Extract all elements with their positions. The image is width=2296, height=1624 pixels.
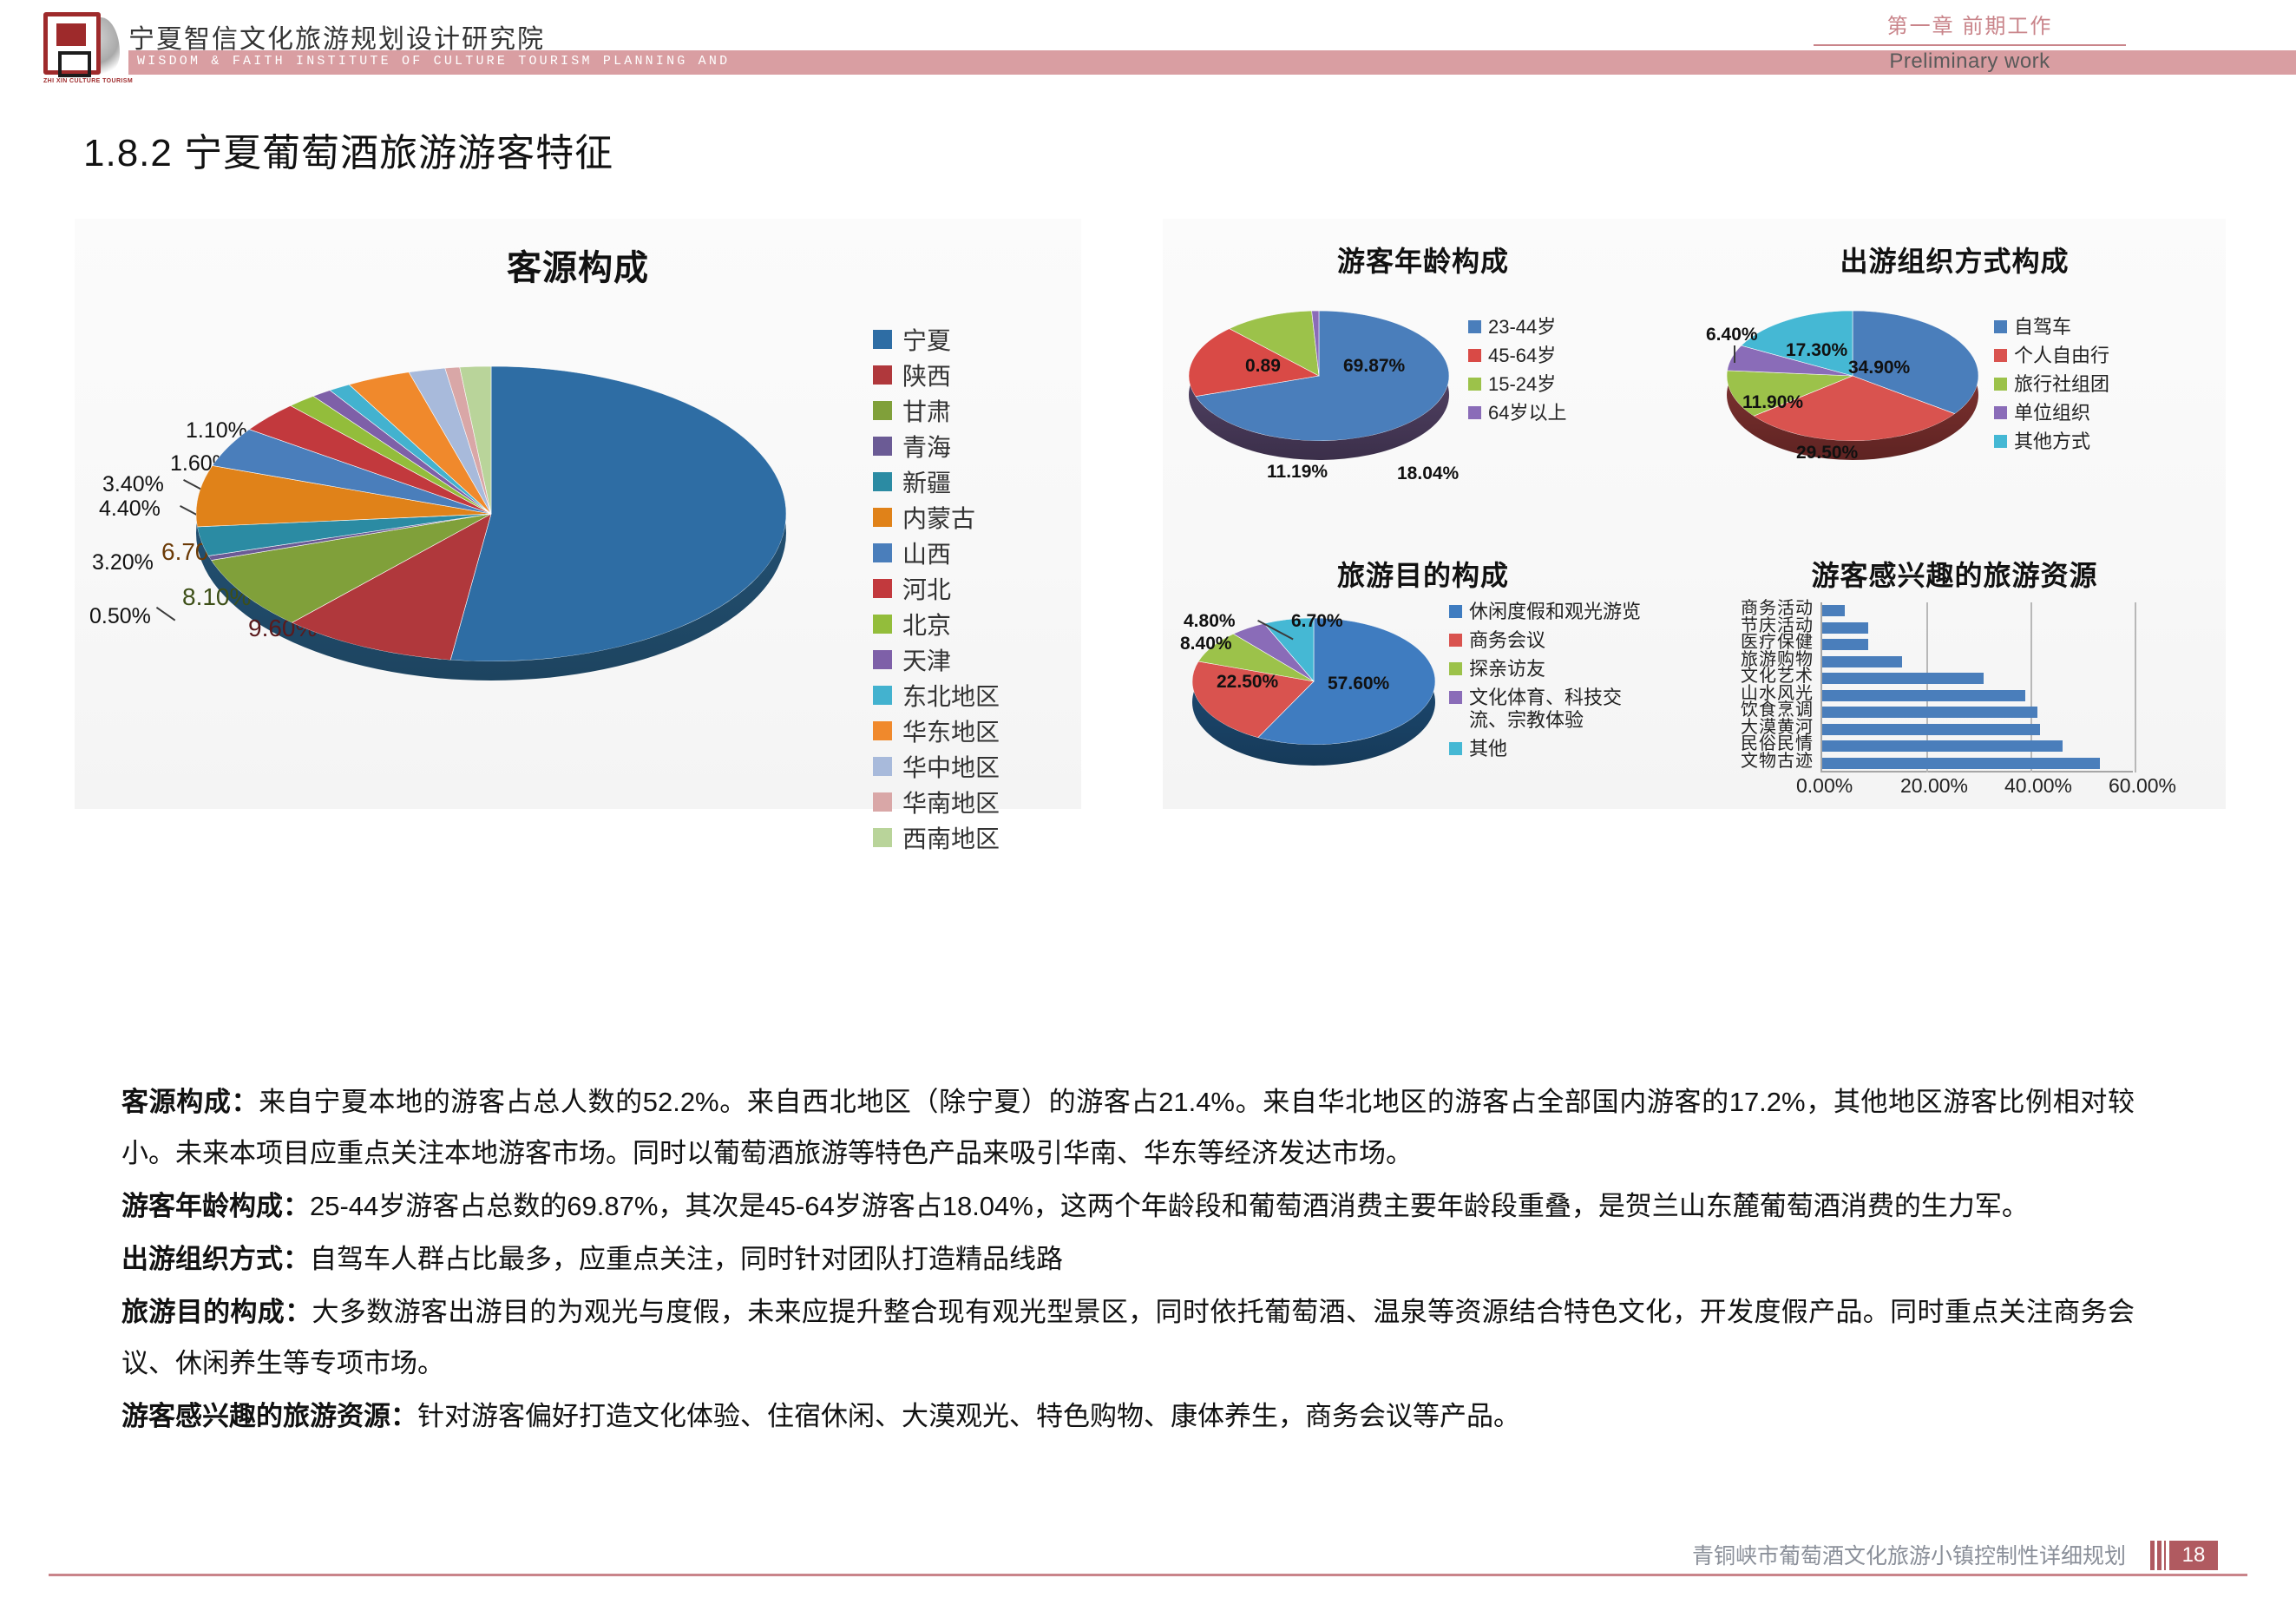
legend-age-composition: 23-44岁45-64岁15-24岁64岁以上: [1468, 316, 1566, 431]
axis-tick-label: 20.00%: [1900, 774, 1968, 798]
legend-item[interactable]: 其他: [1449, 738, 1643, 760]
institute-logo: ZHI XIN CULTURE TOURISM: [43, 12, 121, 90]
chapter-indicator: 第一章 前期工作 Preliminary work: [1788, 9, 2152, 74]
legend-item[interactable]: 北京: [873, 606, 1073, 641]
legend-label: 新疆: [902, 464, 951, 499]
analysis-paragraph: 游客年龄构成：25-44岁游客占总数的69.87%，其次是45-64岁游客占18…: [121, 1180, 2135, 1232]
legend-item[interactable]: 东北地区: [873, 677, 1073, 713]
pie-value-label: 69.87%: [1343, 356, 1405, 377]
callout-leader-line: [156, 607, 175, 621]
paragraph-label: 旅游目的构成：: [121, 1297, 312, 1327]
legend-swatch-icon: [1449, 662, 1462, 675]
bar-chart-interest-resources: 商务活动节庆活动医疗保健旅游购物文化艺术山水风光饮食烹调大漠黄河民俗民情文物古迹…: [1683, 601, 2226, 787]
bar: [1822, 707, 2037, 718]
institute-name-en: WISDOM & FAITH INSTITUTE OF CULTURE TOUR…: [137, 54, 730, 69]
pie-chart-source-composition: [196, 332, 786, 713]
pie-value-label: 18.04%: [1397, 464, 1459, 484]
legend-swatch-icon: [1468, 349, 1481, 362]
legend-label: 山西: [902, 536, 951, 570]
legend-label: 探亲访友: [1469, 658, 1545, 681]
pie-value-label: 0.50%: [89, 604, 151, 629]
paragraph-label: 客源构成：: [121, 1087, 259, 1117]
bar-row: [1822, 636, 2135, 654]
bar-category-labels: 商务活动节庆活动医疗保健旅游购物文化艺术山水风光饮食烹调大漠黄河民俗民情文物古迹: [1683, 601, 1814, 770]
legend-label: 单位组织: [2014, 402, 2090, 424]
logo-subtitle: ZHI XIN CULTURE TOURISM: [43, 78, 123, 84]
pie-3d-top: [1189, 311, 1449, 441]
bar-category-label: 文化艺术: [1683, 668, 1814, 686]
legend-item[interactable]: 新疆: [873, 464, 1073, 499]
legend-label: 河北: [902, 571, 951, 606]
legend-swatch-icon: [873, 543, 892, 562]
legend-item[interactable]: 个人自由行: [1994, 345, 2109, 367]
legend-label: 文化体育、科技交流、宗教体验: [1469, 687, 1643, 732]
paragraph-label: 出游组织方式：: [121, 1244, 310, 1274]
paragraph-label: 游客年龄构成：: [121, 1191, 310, 1221]
bar: [1822, 605, 1845, 616]
legend-item[interactable]: 其他方式: [1994, 431, 2109, 453]
legend-swatch-icon: [873, 508, 892, 527]
bar-row: [1822, 738, 2135, 755]
legend-swatch-icon: [873, 330, 892, 349]
legend-swatch-icon: [1449, 605, 1462, 618]
legend-item[interactable]: 64岁以上: [1468, 402, 1566, 424]
legend-item[interactable]: 山西: [873, 535, 1073, 570]
legend-item[interactable]: 旅行社组团: [1994, 373, 2109, 396]
chart-panel-tourist-profile: 游客年龄构成 69.87%18.04%11.19%0.89 23-44岁45-6…: [1163, 219, 2226, 809]
legend-swatch-icon: [873, 615, 892, 634]
legend-item[interactable]: 华中地区: [873, 748, 1073, 784]
legend-label: 西南地区: [902, 820, 1000, 855]
paragraph-text: 来自宁夏本地的游客占总人数的52.2%。来自西北地区（除宁夏）的游客占21.4%…: [121, 1087, 2135, 1168]
legend-swatch-icon: [1449, 742, 1462, 755]
pie-value-label: 4.40%: [99, 496, 161, 522]
bar-row: [1822, 654, 2135, 671]
legend-item[interactable]: 河北: [873, 570, 1073, 606]
legend-item[interactable]: 宁夏: [873, 321, 1073, 357]
page-footer: 青铜峡市葡萄酒文化旅游小镇控制性详细规划 18: [0, 1529, 2296, 1624]
page-title: 1.8.2 宁夏葡萄酒旅游游客特征: [83, 122, 613, 177]
bar-row: [1822, 704, 2135, 721]
legend-item[interactable]: 西南地区: [873, 819, 1073, 855]
legend-item[interactable]: 华东地区: [873, 713, 1073, 748]
pie-chart-age-composition: [1189, 311, 1449, 467]
pie-3d-top: [196, 366, 786, 661]
paragraph-text: 自驾车人群占比最多，应重点关注，同时针对团队打造精品线路: [310, 1244, 1063, 1274]
legend-label: 青海: [902, 429, 951, 464]
legend-swatch-icon: [873, 472, 892, 491]
chart-title-travel-organization: 出游组织方式构成: [1683, 240, 2226, 279]
legend-label: 23-44岁: [1488, 316, 1556, 339]
bar-category-label: 医疗保健: [1683, 634, 1814, 652]
legend-label: 华南地区: [902, 785, 1000, 819]
axis-tick-label: 0.00%: [1796, 774, 1853, 798]
bar-category-label: 饮食烹调: [1683, 702, 1814, 720]
bar-row: [1822, 721, 2135, 739]
legend-item[interactable]: 23-44岁: [1468, 316, 1566, 339]
pie-value-label: 6.40%: [1706, 325, 1758, 345]
legend-swatch-icon: [873, 437, 892, 456]
legend-label: 宁夏: [902, 322, 951, 357]
legend-item[interactable]: 商务会议: [1449, 629, 1643, 652]
axis-tick-label: 60.00%: [2109, 774, 2176, 798]
legend-item[interactable]: 内蒙古: [873, 499, 1073, 535]
pie-value-label: 11.19%: [1267, 462, 1328, 483]
legend-swatch-icon: [873, 792, 892, 812]
logo-seal-icon: [43, 12, 101, 75]
pie-value-label: 57.60%: [1328, 674, 1389, 694]
legend-label: 休闲度假和观光游览: [1469, 601, 1643, 623]
legend-item[interactable]: 青海: [873, 428, 1073, 464]
legend-label: 华中地区: [902, 749, 1000, 784]
legend-item[interactable]: 45-64岁: [1468, 345, 1566, 367]
legend-swatch-icon: [873, 365, 892, 385]
bar-row: [1822, 755, 2135, 773]
chapter-divider: [1814, 44, 2126, 46]
legend-label: 天津: [902, 642, 951, 677]
bar-category-label: 民俗民情: [1683, 736, 1814, 753]
pie-slices-age: [1189, 311, 1449, 441]
pie-value-label: 11.90%: [1742, 392, 1803, 413]
legend-swatch-icon: [1994, 378, 2007, 391]
legend-item[interactable]: 华南地区: [873, 784, 1073, 819]
chart-title-age-composition: 游客年龄构成: [1163, 240, 1683, 279]
legend-swatch-icon: [1468, 320, 1481, 333]
analysis-paragraph: 旅游目的构成：大多数游客出游目的为观光与度假，未来应提升整合现有观光型景区，同时…: [121, 1286, 2135, 1389]
legend-swatch-icon: [1994, 349, 2007, 362]
legend-swatch-icon: [1994, 406, 2007, 419]
bar-row: [1822, 602, 2135, 620]
chart-title-travel-purpose: 旅游目的构成: [1163, 554, 1683, 594]
legend-swatch-icon: [873, 828, 892, 847]
paragraph-label: 游客感兴趣的旅游资源：: [121, 1401, 417, 1431]
bar-category-label: 商务活动: [1683, 601, 1814, 618]
legend-swatch-icon: [1994, 435, 2007, 448]
legend-swatch-icon: [873, 579, 892, 598]
legend-swatch-icon: [1449, 691, 1462, 704]
pie-value-label: 29.50%: [1796, 443, 1858, 464]
pie-value-label: 3.40%: [102, 472, 164, 497]
footer-divider: [49, 1574, 2247, 1576]
legend-label: 45-64岁: [1488, 345, 1556, 367]
legend-label: 其他: [1469, 738, 1507, 760]
legend-label: 商务会议: [1469, 629, 1545, 652]
bar: [1822, 740, 2063, 752]
chapter-label-cn: 第一章 前期工作: [1788, 9, 2152, 39]
bar: [1822, 673, 1984, 684]
pie-slices-source: [196, 366, 786, 661]
legend-label: 甘肃: [902, 393, 951, 428]
analysis-paragraph: 游客感兴趣的旅游资源：针对游客偏好打造文化体验、住宿休闲、大漠观光、特色购物、康…: [121, 1391, 2135, 1442]
callout-leader-line: [1734, 345, 1735, 363]
legend-label: 内蒙古: [902, 500, 975, 535]
legend-travel-purpose: 休闲度假和观光游览商务会议探亲访友文化体育、科技交流、宗教体验其他: [1449, 601, 1643, 766]
page-number: 18: [2169, 1541, 2218, 1570]
legend-label: 15-24岁: [1488, 373, 1556, 396]
pie-value-label: 0.89: [1245, 356, 1281, 377]
legend-label: 个人自由行: [2014, 345, 2109, 367]
legend-swatch-icon: [873, 401, 892, 420]
axis-tick-label: 40.00%: [2004, 774, 2072, 798]
legend-item[interactable]: 15-24岁: [1468, 373, 1566, 396]
pie-value-label: 4.80%: [1184, 611, 1236, 632]
bar: [1822, 656, 1902, 667]
legend-swatch-icon: [873, 686, 892, 705]
chapter-label-en: Preliminary work: [1788, 49, 2152, 74]
gridline: [2135, 602, 2136, 773]
legend-label: 东北地区: [902, 678, 1000, 713]
legend-label: 64岁以上: [1488, 402, 1566, 424]
legend-item[interactable]: 文化体育、科技交流、宗教体验: [1449, 687, 1643, 732]
paragraph-text: 大多数游客出游目的为观光与度假，未来应提升整合现有观光型景区，同时依托葡萄酒、温…: [121, 1297, 2135, 1378]
legend-item[interactable]: 陕西: [873, 357, 1073, 392]
bar: [1822, 724, 2040, 735]
bar-row: [1822, 670, 2135, 687]
legend-swatch-icon: [1449, 634, 1462, 647]
legend-item[interactable]: 休闲度假和观光游览: [1449, 601, 1643, 623]
legend-swatch-icon: [873, 721, 892, 740]
bar-row: [1822, 687, 2135, 705]
pie-value-label: 34.90%: [1848, 358, 1910, 378]
pie-slice: [450, 366, 786, 661]
pie-value-label: 3.20%: [92, 550, 154, 575]
chart-panel-source-composition: 客源构成 52.20%9.60%8.10%0.50%3.20%6.70%4.40…: [75, 219, 1081, 809]
pie-value-label: 22.50%: [1217, 672, 1278, 693]
page-header: ZHI XIN CULTURE TOURISM 宁夏智信文化旅游规划设计研究院 …: [0, 0, 2296, 102]
legend-item[interactable]: 单位组织: [1994, 402, 2109, 424]
footer-bars-icon: [2150, 1541, 2166, 1570]
bar: [1822, 639, 1868, 650]
bar: [1822, 622, 1868, 634]
bar-plot-area: [1820, 602, 2133, 773]
analysis-paragraph: 出游组织方式：自驾车人群占比最多，应重点关注，同时针对团队打造精品线路: [121, 1233, 2135, 1285]
analysis-paragraph: 客源构成：来自宁夏本地的游客占总人数的52.2%。来自西北地区（除宁夏）的游客占…: [121, 1076, 2135, 1179]
pie-value-label: 17.30%: [1786, 340, 1847, 361]
bar: [1822, 758, 2100, 769]
analysis-text-block: 客源构成：来自宁夏本地的游客占总人数的52.2%。来自西北地区（除宁夏）的游客占…: [121, 1076, 2135, 1443]
legend-label: 陕西: [902, 358, 951, 392]
paragraph-text: 针对游客偏好打造文化体验、住宿休闲、大漠观光、特色购物、康体养生，商务会议等产品…: [417, 1401, 1520, 1431]
legend-item[interactable]: 天津: [873, 641, 1073, 677]
legend-item[interactable]: 甘肃: [873, 392, 1073, 428]
legend-label: 自驾车: [2014, 316, 2071, 339]
legend-travel-organization: 自驾车个人自由行旅行社组团单位组织其他方式: [1994, 316, 2109, 459]
chart-title-source-composition: 客源构成: [75, 240, 1081, 290]
legend-label: 旅行社组团: [2014, 373, 2109, 396]
legend-item[interactable]: 探亲访友: [1449, 658, 1643, 681]
pie-value-label: 8.40%: [1180, 634, 1232, 654]
legend-label: 其他方式: [2014, 431, 2090, 453]
legend-source-composition: 宁夏陕西甘肃青海新疆内蒙古山西河北北京天津东北地区华东地区华中地区华南地区西南地…: [873, 321, 1073, 855]
footer-title: 青铜峡市葡萄酒文化旅游小镇控制性详细规划: [1692, 1539, 2126, 1570]
bar-category-label: 文物古迹: [1683, 753, 1814, 771]
legend-swatch-icon: [873, 650, 892, 669]
chart-title-interest-resources: 游客感兴趣的旅游资源: [1683, 554, 2226, 594]
legend-label: 华东地区: [902, 713, 1000, 748]
legend-label: 北京: [902, 607, 951, 641]
pie-value-label: 6.70%: [1291, 611, 1343, 632]
bar: [1822, 690, 2025, 701]
legend-swatch-icon: [1468, 406, 1481, 419]
paragraph-text: 25-44岁游客占总数的69.87%，其次是45-64岁游客占18.04%，这两…: [310, 1191, 2029, 1221]
legend-swatch-icon: [873, 757, 892, 776]
legend-item[interactable]: 自驾车: [1994, 316, 2109, 339]
bar-row: [1822, 620, 2135, 637]
legend-swatch-icon: [1994, 320, 2007, 333]
legend-swatch-icon: [1468, 378, 1481, 391]
